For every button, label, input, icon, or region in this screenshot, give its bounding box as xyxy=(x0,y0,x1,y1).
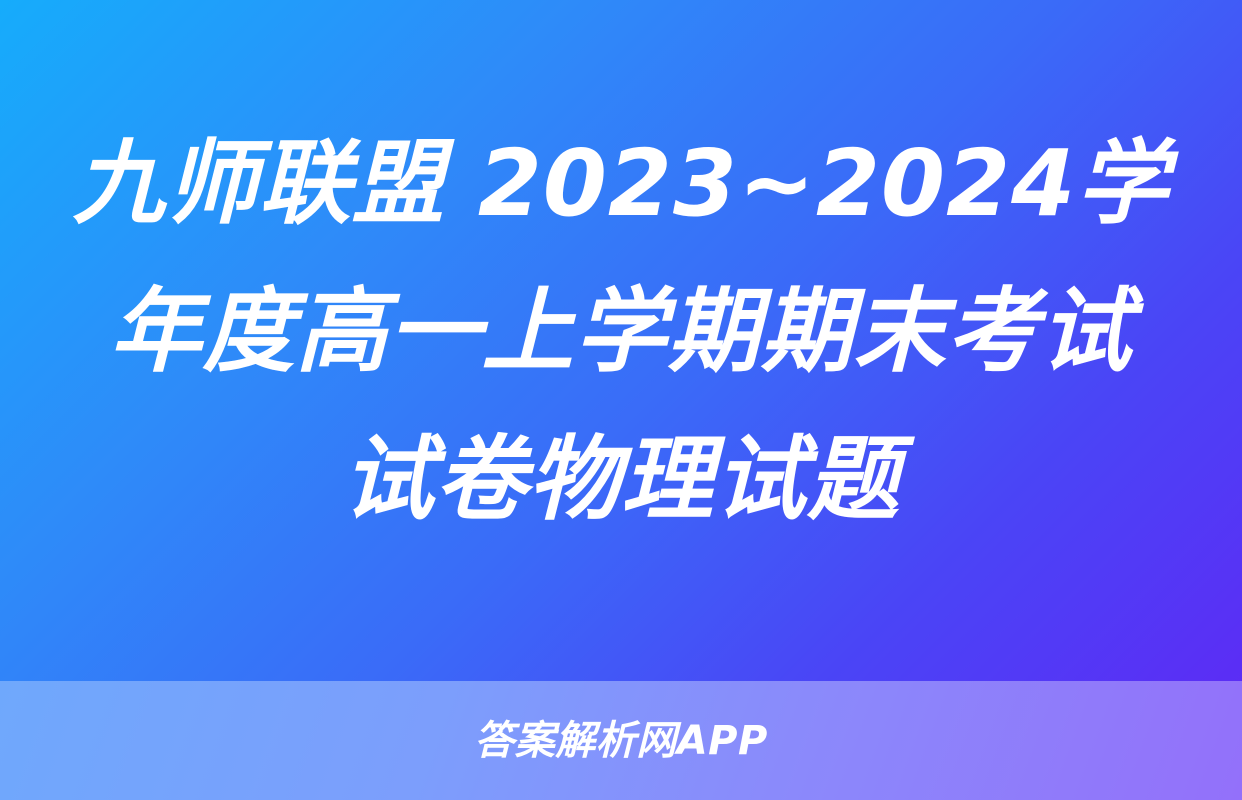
hero-gradient-panel: 九师联盟 2023~2024学 年度高一上学期期末考试 试卷物理试题 xyxy=(0,0,1242,681)
title-line-1: 九师联盟 2023~2024学 xyxy=(73,110,1169,258)
footer-brand-band: 答案解析网APP xyxy=(0,681,1242,800)
page-title: 九师联盟 2023~2024学 年度高一上学期期末考试 试卷物理试题 xyxy=(0,0,1242,681)
exam-paper-banner-card: 九师联盟 2023~2024学 年度高一上学期期末考试 试卷物理试题 答案解析网… xyxy=(0,0,1242,800)
app-brand-label: 答案解析网APP xyxy=(474,717,768,765)
title-line-3: 试卷物理试题 xyxy=(342,406,900,554)
title-line-2: 年度高一上学期期末考试 xyxy=(109,258,1132,406)
